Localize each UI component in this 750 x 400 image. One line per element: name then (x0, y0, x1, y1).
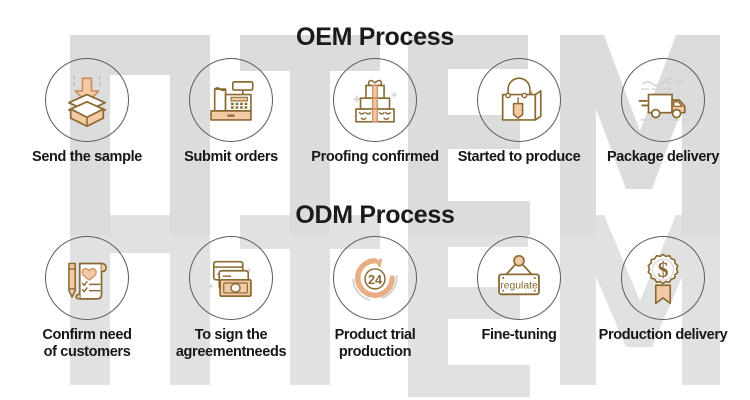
step-label: Package delivery (607, 149, 719, 166)
cash-register-icon (189, 58, 273, 142)
step-production-delivery[interactable]: $ Production delivery (594, 236, 732, 344)
open-box-download-icon (45, 58, 129, 142)
step-confirm-need-of-customers[interactable]: Confirm need of customers (18, 236, 156, 361)
section-oem: OEM Process (0, 22, 750, 166)
section-title-odm: ODM Process (0, 200, 750, 230)
twenty-four-hour-cycle-icon: 24 (333, 236, 417, 320)
step-send-the-sample[interactable]: Send the sample (18, 58, 156, 166)
step-label: Product trial production (335, 327, 416, 361)
step-started-to-produce[interactable]: Started to produce (450, 58, 588, 166)
hanging-sign-icon: regulate (477, 236, 561, 320)
step-proofing-confirmed[interactable]: Proofing confirmed (306, 58, 444, 166)
sign-label-text: regulate (500, 280, 538, 291)
step-label: Fine-tuning (481, 327, 556, 344)
step-label: Production delivery (599, 327, 728, 344)
step-product-trial-production[interactable]: 24 Product trial production (306, 236, 444, 361)
step-label: Confirm need of customers (42, 327, 131, 361)
delivery-truck-icon (621, 58, 705, 142)
section-odm: ODM Process (0, 200, 750, 361)
step-label: Proofing confirmed (311, 149, 438, 166)
badge-24-text: 24 (368, 273, 382, 287)
step-label: To sign the agreementneeds (176, 327, 286, 361)
shopping-bag-tag-icon (477, 58, 561, 142)
infographic-canvas: OEM Process (0, 0, 750, 400)
award-dollar-icon: $ (621, 236, 705, 320)
dollar-glyph: $ (658, 258, 669, 282)
step-label: Send the sample (32, 149, 142, 166)
step-label: Started to produce (458, 149, 581, 166)
credit-card-cash-icon (189, 236, 273, 320)
gift-boxes-icon (333, 58, 417, 142)
step-label: Submit orders (184, 149, 278, 166)
step-to-sign-the-agreement[interactable]: To sign the agreementneeds (162, 236, 300, 361)
pen-contract-heart-icon (45, 236, 129, 320)
step-fine-tuning[interactable]: regulate Fine-tuning (450, 236, 588, 344)
steps-row-odm: Confirm need of customers (0, 236, 750, 361)
step-package-delivery[interactable]: Package delivery (594, 58, 732, 166)
step-submit-orders[interactable]: Submit orders (162, 58, 300, 166)
steps-row-oem: Send the sample (0, 58, 750, 166)
section-title-oem: OEM Process (0, 22, 750, 52)
